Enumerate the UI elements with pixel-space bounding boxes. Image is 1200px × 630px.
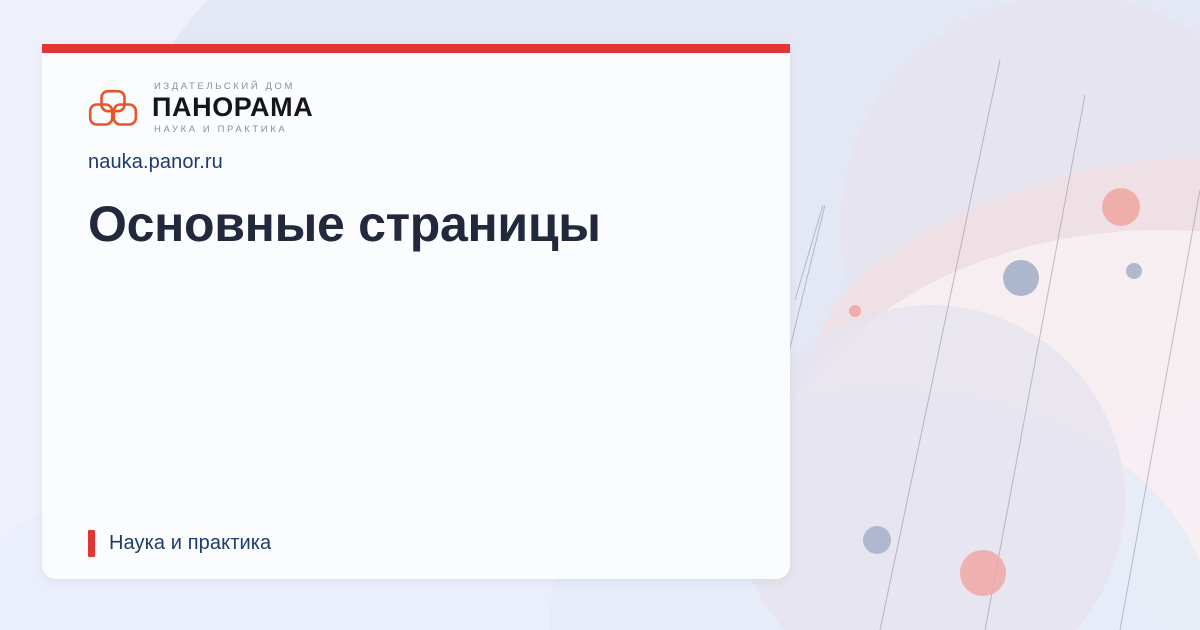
site-url-link[interactable]: nauka.panor.ru xyxy=(88,151,223,174)
footer-accent-bar xyxy=(88,530,95,557)
bg-dot-pink-small xyxy=(849,305,861,317)
card-footer: Наука и практика xyxy=(88,530,271,557)
bg-dot-pink-lower xyxy=(960,550,1006,596)
logo-tagline: НАУКА И ПРАКТИКА xyxy=(152,125,313,135)
og-image-canvas: ИЗДАТЕЛЬСКИЙ ДОМ ПАНОРАМА НАУКА И ПРАКТИ… xyxy=(0,0,1200,630)
bg-dot-blue-large xyxy=(1003,260,1039,296)
panorama-three-squares-icon xyxy=(88,88,138,128)
bg-dot-blue-small xyxy=(1126,263,1142,279)
content-card: ИЗДАТЕЛЬСКИЙ ДОМ ПАНОРАМА НАУКА И ПРАКТИ… xyxy=(42,44,790,579)
card-top-accent-bar xyxy=(42,44,790,53)
logo-kicker: ИЗДАТЕЛЬСКИЙ ДОМ xyxy=(152,82,313,92)
logo-wordmark: ПАНОРАМА xyxy=(152,94,313,121)
publisher-logo[interactable]: ИЗДАТЕЛЬСКИЙ ДОМ ПАНОРАМА НАУКА И ПРАКТИ… xyxy=(88,79,744,137)
bg-dot-blue-lower xyxy=(863,526,891,554)
footer-label: Наука и практика xyxy=(109,532,271,555)
bg-dot-pink-large xyxy=(1102,188,1140,226)
page-title: Основные страницы xyxy=(88,196,744,252)
card-content: ИЗДАТЕЛЬСКИЙ ДОМ ПАНОРАМА НАУКА И ПРАКТИ… xyxy=(42,53,790,579)
publisher-logo-text: ИЗДАТЕЛЬСКИЙ ДОМ ПАНОРАМА НАУКА И ПРАКТИ… xyxy=(152,82,313,135)
